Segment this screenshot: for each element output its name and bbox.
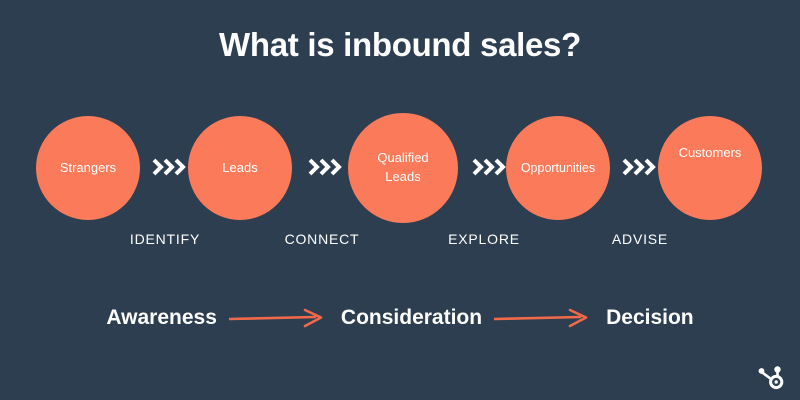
triple-chevron-right-icon [152,158,186,176]
funnel-stage-label: Leads [221,159,258,178]
funnel-action-explore: EXPLORE [424,231,544,247]
buyer-journey-row: Awareness Consideration Decision [0,306,800,330]
funnel-stage-label: Opportunities [520,159,596,177]
funnel-stage-opportunities[interactable]: Opportunities [506,116,610,220]
arrow-right-icon [229,308,329,328]
triple-chevron-right-icon [308,158,342,176]
funnel-stage-label: Customers [678,144,743,163]
triple-chevron-right-icon [622,158,656,176]
funnel-action-advise: ADVISE [580,231,700,247]
arrow-right-icon [494,308,594,328]
funnel-stage-label: Qualified Leads [376,149,429,187]
funnel-action-connect: CONNECT [262,231,382,247]
funnel-stage-qualified-leads[interactable]: Qualified Leads [348,113,458,223]
journey-stage-consideration: Consideration [341,306,482,330]
hubspot-sprocket-logo [756,362,786,392]
funnel-stage-strangers[interactable]: Strangers [36,116,140,220]
funnel-stage-label: Strangers [59,159,117,178]
funnel-stage-leads[interactable]: Leads [188,116,292,220]
journey-stage-decision: Decision [606,306,694,330]
triple-chevron-right-icon [472,158,506,176]
funnel-action-identify: IDENTIFY [105,231,225,247]
page-title: What is inbound sales? [0,26,800,64]
journey-stage-awareness: Awareness [106,306,217,330]
funnel-stage-customers[interactable]: Customers [658,116,762,220]
infographic-canvas: What is inbound sales? Strangers Leads Q… [0,0,800,400]
